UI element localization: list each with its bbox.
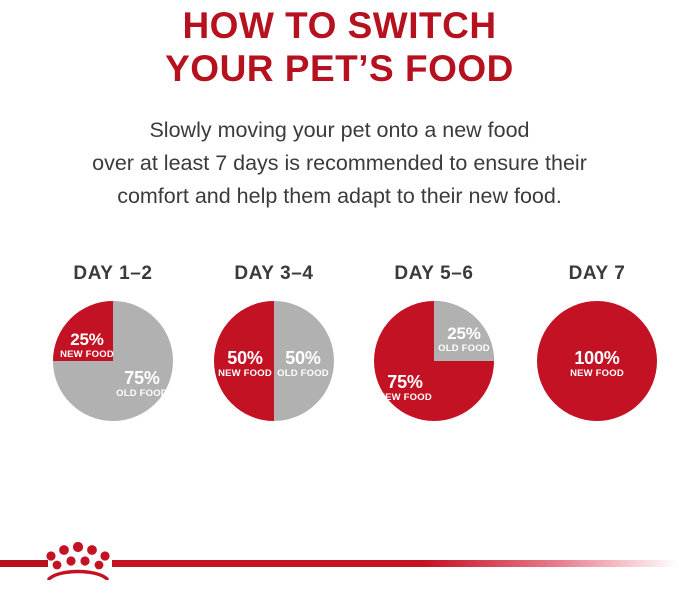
pie-group-day-5-6: DAY 5–6 25% OLD FOOD 75% NEW FOOD [350,262,518,421]
intro-line-1: Slowly moving your pet onto a new food [0,114,679,147]
slice-new-food [53,301,113,361]
crown-icon-svg [44,542,112,580]
pie-chart-3-svg [374,301,494,421]
pie-group-day-3-4: DAY 3–4 50% NEW FOOD 50% OLD FOOD [190,262,358,421]
page-title-line-1: HOW TO SWITCH [0,4,679,47]
pie-chart-2: 50% NEW FOOD 50% OLD FOOD [214,301,334,421]
pie-chart-2-svg [214,301,334,421]
pie-chart-3: 25% OLD FOOD 75% NEW FOOD [374,301,494,421]
day-label-4: DAY 7 [513,262,679,286]
footer-bar-left [0,560,48,567]
intro-line-2: over at least 7 days is recommended to e… [0,147,679,180]
page-title-line-2: YOUR PET’S FOOD [0,47,679,90]
pie-chart-1-svg [53,301,173,421]
pie-chart-row: DAY 1–2 25% NEW FOOD 75% OLD FOOD DAY 3–… [0,262,679,442]
pie-chart-4: 100% NEW FOOD [537,301,657,421]
pie-chart-4-svg [537,301,657,421]
intro-paragraph: Slowly moving your pet onto a new food o… [0,114,679,213]
pie-group-day-7: DAY 7 100% NEW FOOD [513,262,679,421]
day-label-1: DAY 1–2 [29,262,197,286]
day-label-2: DAY 3–4 [190,262,358,286]
footer-bar-right [112,560,679,567]
slice-old-food [434,301,494,361]
pie-chart-1: 25% NEW FOOD 75% OLD FOOD [53,301,173,421]
page-title: HOW TO SWITCH YOUR PET’S FOOD [0,4,679,90]
slice-new-food [537,301,657,421]
pie-group-day-1-2: DAY 1–2 25% NEW FOOD 75% OLD FOOD [29,262,197,421]
footer [0,534,679,594]
intro-line-3: comfort and help them adapt to their new… [0,180,679,213]
day-label-3: DAY 5–6 [350,262,518,286]
royal-canin-crown-icon [44,542,112,580]
slice-new-food [214,301,274,421]
